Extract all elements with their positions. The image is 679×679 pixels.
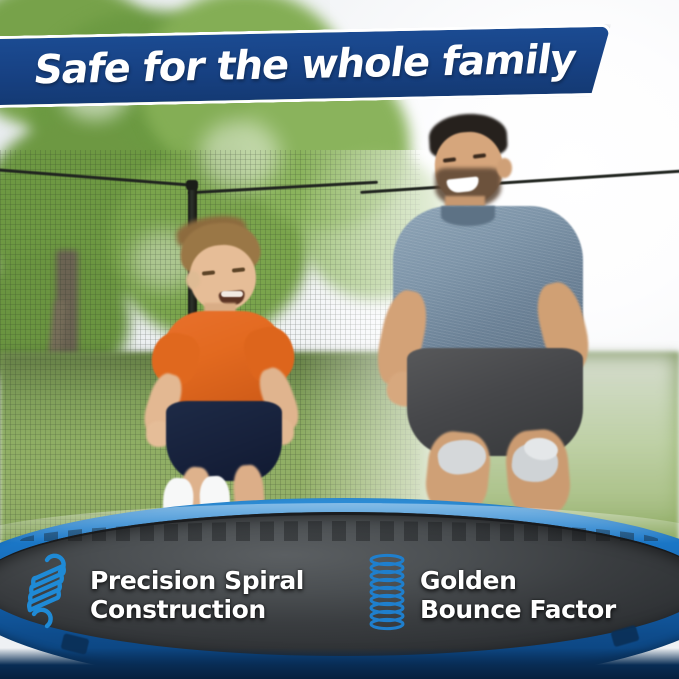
net-pole-cap-left [186, 180, 198, 190]
feature-callouts: Precision Spiral Construction [0, 552, 679, 642]
child-figure [140, 215, 320, 525]
feature-item-precision-spiral: Precision Spiral Construction [16, 552, 304, 637]
coil-spring-icon [366, 552, 408, 637]
child-ear [186, 271, 200, 289]
adult-ear [497, 158, 512, 178]
spiral-spring-icon [16, 552, 78, 637]
child-shorts [166, 401, 282, 481]
adult-figure [385, 110, 615, 510]
feature-item-golden-bounce: Golden Bounce Factor [366, 552, 616, 637]
product-feature-image: Safe for the whole family [0, 0, 679, 679]
feature-label: Golden Bounce Factor [420, 566, 616, 624]
trampoline-bottom-shadow [0, 648, 679, 679]
feature-label: Precision Spiral Construction [90, 566, 304, 624]
headline-banner: Safe for the whole family [0, 24, 613, 109]
child-teeth [221, 291, 243, 297]
adult-collar [441, 206, 495, 226]
